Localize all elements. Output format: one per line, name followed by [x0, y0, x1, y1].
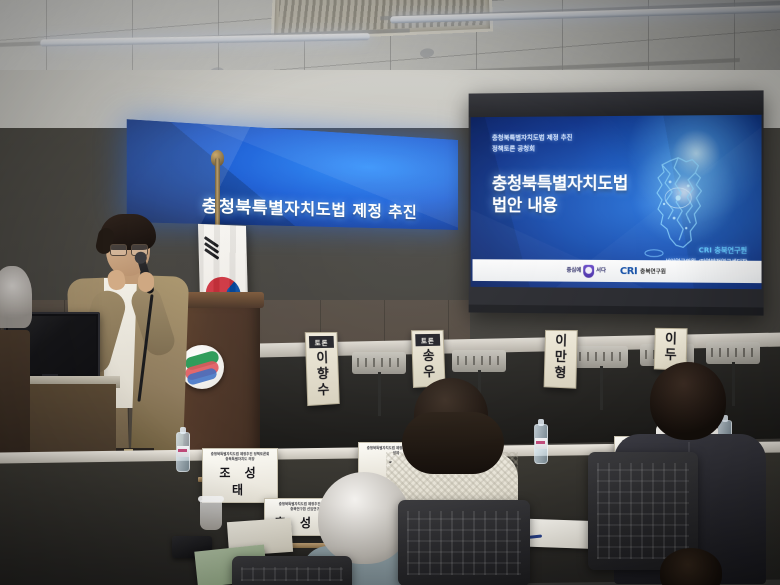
nameplate: 이만형 — [544, 330, 578, 388]
chungbuk-logo-text: 중심에 — [566, 267, 581, 274]
conference-chair — [452, 350, 506, 372]
nameplate-name: 송우 — [413, 349, 445, 382]
slide-title-line-1: 충청북특별자치도법 — [492, 174, 628, 196]
nameplate-name: 이두 — [655, 332, 687, 364]
chungbuk-logo-mark-icon — [583, 264, 594, 277]
presentation-slide: 충청북특별자치도법 제정 추진 정책토론 공청회 충청북특별자치도법 법안 내용… — [471, 115, 762, 289]
mesh-chair — [398, 500, 530, 585]
presenter-hand-right — [138, 272, 154, 292]
chungbuk-logo: 중심에 서다 — [566, 264, 605, 277]
screen-top-bezel — [469, 90, 764, 117]
desk-card-name: 조 성 태 — [207, 464, 273, 498]
chair-leg — [378, 372, 381, 416]
chair-leg — [732, 362, 735, 406]
seminar-photograph: 충청북특별자치도법 제정 추진 — [0, 0, 780, 585]
nameplate-name: 이향수 — [306, 351, 338, 400]
slide-kicker-line-2: 정책토론 공청회 — [492, 144, 573, 156]
chair-leg — [600, 366, 603, 410]
water-bottle-icon — [176, 432, 190, 472]
chungbuk-logo-text-2: 서다 — [596, 268, 606, 275]
slide-kicker: 충청북특별자치도법 제정 추진 정책토론 공청회 — [492, 132, 573, 155]
nameplate: 토론 이향수 — [305, 332, 340, 406]
cri-logo-text: 충북연구원 — [640, 267, 666, 275]
conference-chair — [352, 352, 406, 374]
cri-logo-mark: CRI — [620, 266, 637, 277]
desk-card-subtitle-2: 충북특별자치도 의장 — [207, 457, 273, 462]
projection-screen: 충청북특별자치도법 제정 추진 정책토론 공청회 충청북특별자치도법 법안 내용… — [469, 90, 764, 315]
paper-cup-icon — [200, 500, 222, 530]
seated-attendee-left — [0, 266, 32, 328]
slide-kicker-line-1: 충청북특별자치도법 제정 추진 — [492, 132, 573, 144]
water-bottle-icon — [534, 424, 548, 464]
slide-title-line-2: 법안 내용 — [492, 196, 628, 218]
nameplate-name: 이만형 — [545, 334, 577, 382]
slide-title: 충청북특별자치도법 법안 내용 — [492, 174, 628, 218]
nameplate-role: 토론 — [309, 336, 334, 348]
slide-footer-logos: 중심에 서다 CRI 충북연구원 — [473, 259, 762, 283]
conference-chair — [706, 342, 760, 364]
nameplate-role: 토론 — [415, 334, 440, 346]
conference-chair — [574, 346, 628, 368]
attendee-head — [650, 362, 726, 440]
mesh-chair — [232, 556, 352, 585]
cri-logo: CRI 충북연구원 — [620, 266, 666, 277]
attendee-hair — [402, 412, 504, 474]
attendee-head — [318, 472, 410, 564]
slide-credit-org: CRI 충북연구원 — [665, 245, 747, 258]
desk-name-card: 충청북특별자치도법 제정추진 정책토론회 충북특별자치도 의장 조 성 태 — [202, 448, 278, 503]
